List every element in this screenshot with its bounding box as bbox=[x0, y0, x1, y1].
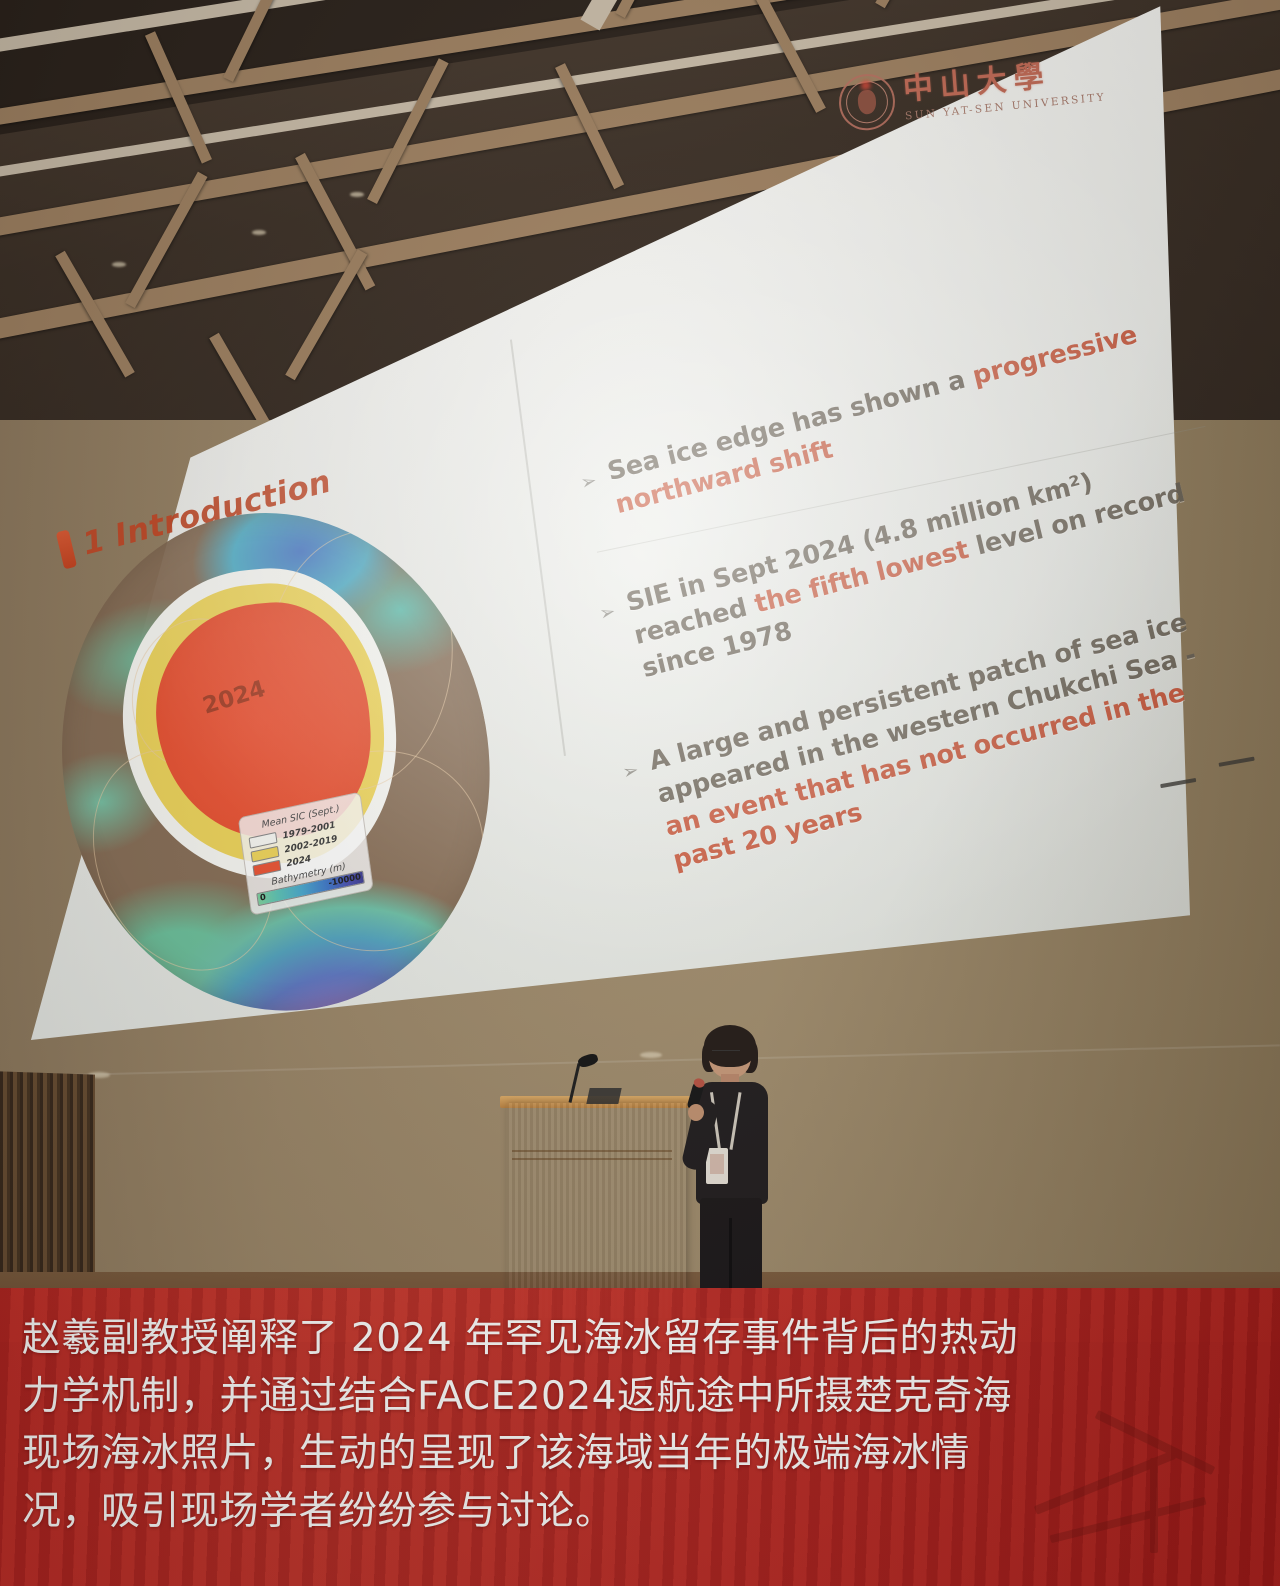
slide-vertical-divider bbox=[510, 340, 566, 756]
projection-screen: 中山大學 SUN YAT-SEN UNIVERSITY 1 Introducti… bbox=[0, 0, 1190, 1040]
legend-swatch bbox=[252, 860, 281, 877]
bullet-list: ➢ Sea ice edge has shown a progressive n… bbox=[567, 270, 1203, 338]
ceiling-downlight bbox=[640, 1052, 662, 1058]
caption-line: 现场海冰照片，生动的呈现了该海域当年的极端海冰情 bbox=[22, 1425, 1262, 1483]
podium bbox=[506, 1103, 686, 1318]
presenter bbox=[686, 1026, 778, 1318]
slide-content: 中山大學 SUN YAT-SEN UNIVERSITY 1 Introducti… bbox=[0, 0, 1190, 994]
podium-groove bbox=[512, 1150, 672, 1152]
caption-line: 力学机制，并通过结合FACE2024返航途中所摄楚克奇海 bbox=[22, 1368, 1262, 1426]
bullet-arrow-icon: ➢ bbox=[579, 470, 608, 530]
glasses-icon bbox=[712, 1050, 740, 1055]
bathymetry-min-label: 0 bbox=[259, 892, 266, 903]
university-logo: 中山大學 SUN YAT-SEN UNIVERSITY bbox=[837, 51, 1107, 132]
legend-label: 2024 bbox=[286, 854, 312, 869]
podium-laptop bbox=[586, 1088, 621, 1104]
podium-groove bbox=[512, 1158, 672, 1160]
caption-line: 赵羲副教授阐释了 2024 年罕见海冰留存事件背后的热动 bbox=[22, 1310, 1262, 1368]
heading-marker-icon bbox=[56, 529, 77, 569]
university-seal-icon bbox=[837, 72, 897, 133]
caption-band: 赵羲副教授阐释了 2024 年罕见海冰留存事件背后的热动 力学机制，并通过结合F… bbox=[0, 1288, 1280, 1586]
caption-line: 况，吸引现场学者纷纷参与讨论。 bbox=[22, 1483, 1262, 1541]
presentation-photo: 中山大學 SUN YAT-SEN UNIVERSITY 1 Introducti… bbox=[0, 0, 1280, 1586]
name-badge bbox=[706, 1148, 728, 1184]
caption-text: 赵羲副教授阐释了 2024 年罕见海冰留存事件背后的热动 力学机制，并通过结合F… bbox=[22, 1310, 1262, 1541]
